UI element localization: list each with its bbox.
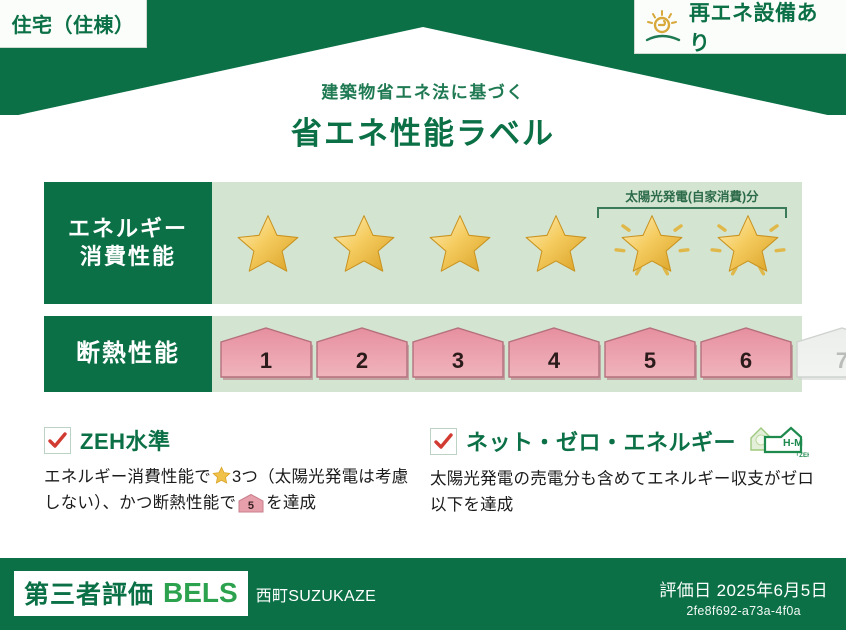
criterion-zeh-title: ZEH水準 bbox=[80, 424, 171, 456]
evaluation-date: 評価日 2025年6月5日 bbox=[659, 576, 828, 601]
insulation-level-5: 5 bbox=[602, 325, 698, 383]
star-icon bbox=[323, 204, 405, 282]
star-3 bbox=[412, 182, 508, 304]
insulation-label-text: 断熱性能 bbox=[76, 339, 180, 370]
svg-text:5: 5 bbox=[248, 500, 254, 512]
checkbox-zeh[interactable] bbox=[44, 427, 71, 454]
page-title: 建築物省エネ法に基づく 省エネ性能ラベル bbox=[0, 78, 846, 153]
check-icon bbox=[47, 430, 68, 451]
zeh-desc-part3: を達成 bbox=[266, 494, 316, 512]
criterion-nze-title: ネット・ゼロ・エネルギー bbox=[466, 425, 736, 457]
insulation-level-number: 5 bbox=[602, 348, 698, 374]
insulation-level-3: 3 bbox=[410, 325, 506, 383]
star-icon bbox=[419, 204, 501, 282]
check-icon bbox=[433, 431, 454, 452]
star-icon bbox=[212, 466, 231, 485]
star-1 bbox=[220, 182, 316, 304]
badge-dwelling-type: 住宅（住棟） bbox=[0, 0, 147, 48]
insulation-level-2: 2 bbox=[314, 325, 410, 383]
insulation-level-4: 4 bbox=[506, 325, 602, 383]
insulation-level-number: 6 bbox=[698, 348, 794, 374]
footer-evaluation-info: 評価日 2025年6月5日 2fe8f692-a73a-4f0a bbox=[659, 576, 828, 618]
checkbox-net-zero-energy[interactable] bbox=[430, 428, 457, 455]
criterion-nze-description: 太陽光発電の売電分も含めてエネルギー収支がゼロ以下を達成 bbox=[430, 467, 820, 518]
insulation-level-scale: 1234567 bbox=[218, 316, 802, 392]
solar-note-caption: 太陽光発電(自家消費)分 bbox=[597, 186, 787, 205]
insulation-level-number: 3 bbox=[410, 348, 506, 374]
star-2 bbox=[316, 182, 412, 304]
energy-label-line2: 消費性能 bbox=[80, 243, 176, 271]
criterion-zeh: ZEH水準 エネルギー消費性能で3つ（太陽光発電は考慮しない）、かつ断熱性能で5… bbox=[44, 424, 424, 521]
zeh-desc-part1: エネルギー消費性能で bbox=[44, 468, 211, 486]
insulation-level-6: 6 bbox=[698, 325, 794, 383]
house-5-icon: 5 bbox=[238, 499, 264, 517]
title-subtitle: 建築物省エネ法に基づく bbox=[0, 78, 846, 103]
star-icon bbox=[515, 204, 597, 282]
svg-text:「ZEH-M」: 「ZEH-M」 bbox=[793, 451, 809, 458]
bels-jp-label: 第三者評価 bbox=[24, 575, 154, 611]
solar-self-consumption-note: 太陽光発電(自家消費)分 bbox=[597, 186, 787, 218]
bels-energy-label: 住宅（住棟） 再エネ設備あり 建築物省エネ法に基づく 省エネ性能ラベル bbox=[0, 0, 846, 630]
evaluation-id: 2fe8f692-a73a-4f0a bbox=[659, 604, 828, 618]
criterion-zeh-header: ZEH水準 bbox=[44, 424, 424, 456]
insulation-level-number: 2 bbox=[314, 348, 410, 374]
insulation-level-1: 1 bbox=[218, 325, 314, 383]
insulation-level-number: 4 bbox=[506, 348, 602, 374]
badge-renewable-equipment: 再エネ設備あり bbox=[634, 0, 846, 54]
solar-sun-icon bbox=[643, 9, 683, 45]
insulation-level-7: 7 bbox=[794, 325, 846, 383]
solar-note-bracket bbox=[597, 207, 787, 218]
badge-dwelling-label: 住宅（住棟） bbox=[12, 9, 135, 38]
building-name: 西町SUZUKAZE bbox=[256, 582, 376, 606]
star-4 bbox=[508, 182, 604, 304]
svg-text:H-M: H-M bbox=[783, 437, 803, 449]
star-icon bbox=[227, 204, 309, 282]
criterion-zeh-description: エネルギー消費性能で3つ（太陽光発電は考慮しない）、かつ断熱性能で5を達成 bbox=[44, 465, 424, 521]
insulation-performance-label: 断熱性能 bbox=[44, 316, 212, 392]
energy-label-line1: エネルギー bbox=[68, 215, 188, 243]
footer-evaluation-badge: 第三者評価 BELS 西町SUZUKAZE bbox=[14, 571, 376, 616]
insulation-performance-row: 断熱性能 1234567 bbox=[44, 316, 802, 392]
insulation-scale-area: 1234567 bbox=[212, 316, 802, 392]
insulation-level-number: 1 bbox=[218, 348, 314, 374]
bels-en-label: BELS bbox=[163, 577, 238, 609]
bels-badge: 第三者評価 BELS bbox=[14, 571, 248, 616]
badge-renewable-label: 再エネ設備あり bbox=[689, 0, 838, 57]
insulation-level-number: 7 bbox=[794, 348, 846, 374]
energy-performance-label: エネルギー 消費性能 bbox=[44, 182, 212, 304]
criterion-net-zero-energy: ネット・ゼロ・エネルギー H-M 「ZEH-M」 太陽光発電の売電分も含めてエネ… bbox=[430, 424, 820, 518]
criterion-nze-header: ネット・ゼロ・エネルギー H-M 「ZEH-M」 bbox=[430, 424, 820, 458]
zeh-m-house-logo: H-M 「ZEH-M」 bbox=[747, 424, 809, 458]
title-main: 省エネ性能ラベル bbox=[0, 108, 846, 153]
